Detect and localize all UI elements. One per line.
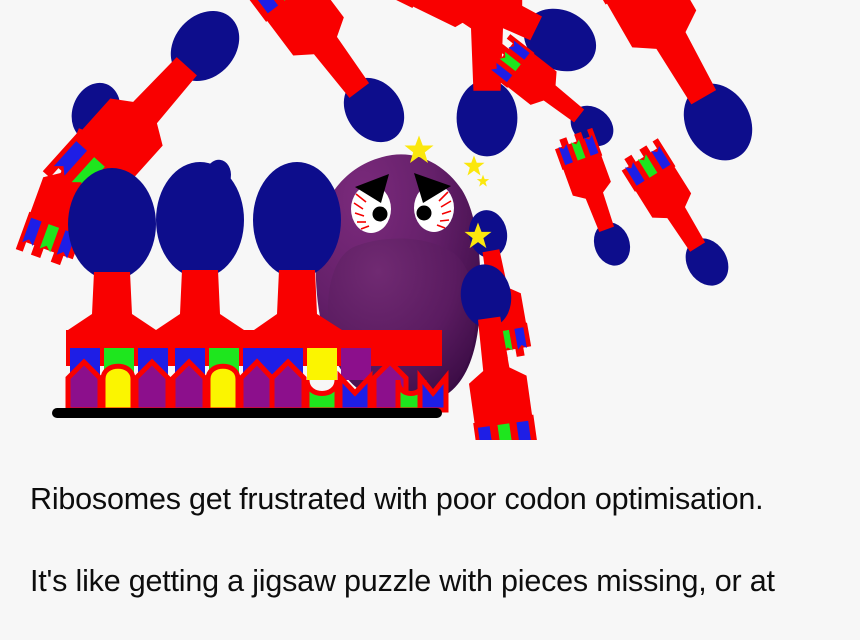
jigsaw-piece: [103, 366, 133, 410]
mrna-jigsaw-strand: [52, 330, 446, 418]
ribosome-illustration: [0, 0, 860, 440]
caption-text: Ribosomes get frustrated with poor codon…: [30, 438, 830, 640]
caption-line-2: It's like getting a jigsaw puzzle with p…: [30, 561, 830, 602]
illustration-page: Ribosomes get frustrated with poor codon…: [0, 0, 860, 640]
shelf-bar: [52, 408, 442, 418]
caption-line-1: Ribosomes get frustrated with poor codon…: [30, 479, 830, 520]
jigsaw-piece: [208, 366, 238, 410]
jigsaw-piece-row: [68, 362, 446, 410]
